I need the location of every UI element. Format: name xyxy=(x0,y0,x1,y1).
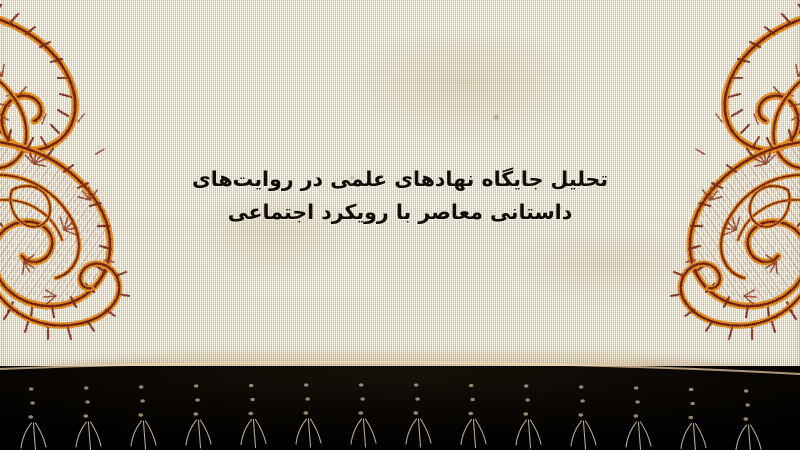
slide-canvas: تحلیل جایگاه نهادهای علمی در روایت‌های د… xyxy=(0,0,800,450)
title-line-2: داستانی معاصر با رویکرد اجتماعی xyxy=(185,196,615,229)
slide-title: تحلیل جایگاه نهادهای علمی در روایت‌های د… xyxy=(185,163,615,229)
title-line-1: تحلیل جایگاه نهادهای علمی در روایت‌های xyxy=(185,163,615,196)
black-backdrop xyxy=(0,366,800,450)
